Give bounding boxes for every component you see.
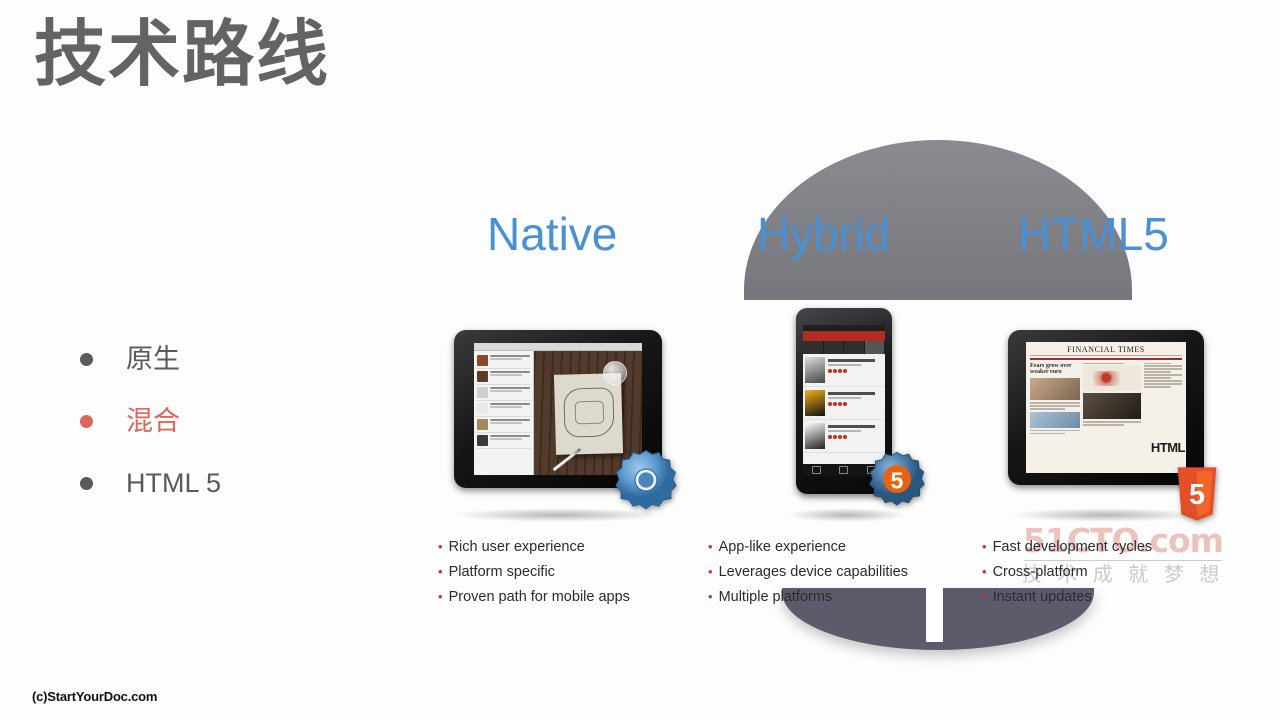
shield-number: 5 bbox=[1189, 479, 1205, 511]
feature-label: Cross-platform bbox=[993, 565, 1088, 580]
feature-item: • Cross-platform bbox=[982, 565, 1152, 580]
footer-credit: (c)StartYourDoc.com bbox=[32, 689, 157, 704]
feature-label: Fast development cycles bbox=[993, 540, 1153, 555]
feature-item: • Fast development cycles bbox=[982, 540, 1152, 555]
browser-screen-html5: FINANCIAL TIMES Fears grow over weaker e… bbox=[1026, 342, 1186, 473]
gear-badge-number: 5 bbox=[891, 467, 904, 493]
article-photo bbox=[1030, 412, 1080, 428]
feature-label: Rich user experience bbox=[449, 540, 585, 555]
article-column-2 bbox=[1083, 363, 1141, 462]
feature-bullet-icon: • bbox=[708, 565, 713, 578]
device-shadow bbox=[1008, 508, 1201, 522]
column-heading-html5: HTML5 bbox=[1018, 207, 1169, 261]
list-item-label: HTML 5 bbox=[126, 470, 221, 497]
feature-item: • Leverages device capabilities bbox=[708, 565, 908, 580]
list-item bbox=[803, 354, 885, 387]
tablet-device-html5: FINANCIAL TIMES Fears grow over weaker e… bbox=[1008, 330, 1204, 485]
feature-bullet-icon: • bbox=[438, 540, 443, 553]
app-toolbar bbox=[474, 343, 642, 351]
blue-gear-icon bbox=[614, 448, 678, 512]
app-title-bar bbox=[803, 331, 885, 341]
html-wordmark: HTML bbox=[1151, 440, 1185, 455]
mail-list-pane bbox=[474, 351, 534, 475]
feature-item: • Instant updates bbox=[982, 590, 1152, 605]
feature-item: • Multiple platforms bbox=[708, 590, 908, 605]
list-item bbox=[803, 420, 885, 453]
bullet-dot-icon bbox=[80, 353, 93, 366]
device-shadow bbox=[787, 508, 907, 522]
topic-bullet-list: 原生 混合 HTML 5 bbox=[80, 328, 380, 514]
feature-item: • Platform specific bbox=[438, 565, 630, 580]
feature-list-native: • Rich user experience • Platform specif… bbox=[438, 540, 630, 615]
list-item-hybrid[interactable]: 混合 bbox=[80, 390, 380, 452]
feature-bullet-icon: • bbox=[982, 540, 987, 553]
feature-bullet-icon: • bbox=[982, 590, 987, 603]
gear-with-html5-number-icon: 5 bbox=[868, 450, 926, 508]
list-item-label: 原生 bbox=[126, 346, 180, 373]
column-heading-hybrid: Hybrid bbox=[757, 207, 890, 261]
device-illustration-hybrid: 5 bbox=[782, 306, 912, 516]
page-title: 技术路线 bbox=[34, 16, 330, 95]
feature-bullet-icon: • bbox=[438, 590, 443, 603]
feature-list-hybrid: • App-like experience • Leverages device… bbox=[708, 540, 908, 615]
feature-bullet-icon: • bbox=[438, 565, 443, 578]
feature-label: Platform specific bbox=[449, 565, 555, 580]
column-heading-native: Native bbox=[487, 207, 617, 261]
data-map-graphic bbox=[1083, 365, 1141, 391]
glass-image bbox=[603, 361, 627, 385]
article-photo bbox=[1030, 378, 1080, 400]
app-tab-bar bbox=[803, 341, 885, 354]
feature-item: • Proven path for mobile apps bbox=[438, 590, 630, 605]
feature-label: App-like experience bbox=[719, 540, 846, 555]
feature-label: Proven path for mobile apps bbox=[449, 590, 630, 605]
feature-bullet-icon: • bbox=[982, 565, 987, 578]
feature-item: • Rich user experience bbox=[438, 540, 630, 555]
list-item-native[interactable]: 原生 bbox=[80, 328, 380, 390]
article-column-1: Fears grow over weaker euro bbox=[1030, 363, 1080, 462]
list-item bbox=[476, 353, 531, 369]
sketch-paper-image bbox=[554, 373, 623, 455]
feature-label: Leverages device capabilities bbox=[719, 565, 908, 580]
feature-label: Instant updates bbox=[993, 590, 1092, 605]
list-item bbox=[476, 417, 531, 433]
feature-item: • App-like experience bbox=[708, 540, 908, 555]
bullet-dot-icon bbox=[80, 415, 93, 428]
feature-bullet-icon: • bbox=[708, 540, 713, 553]
device-illustration-html5: FINANCIAL TIMES Fears grow over weaker e… bbox=[1000, 326, 1210, 516]
device-shadow bbox=[453, 508, 665, 522]
article-photo bbox=[1083, 393, 1141, 419]
site-masthead: FINANCIAL TIMES bbox=[1030, 345, 1182, 356]
list-item bbox=[803, 387, 885, 420]
feature-label: Multiple platforms bbox=[719, 590, 833, 605]
bullet-dot-icon bbox=[80, 477, 93, 490]
list-item-html5[interactable]: HTML 5 bbox=[80, 452, 380, 514]
feature-bullet-icon: • bbox=[708, 590, 713, 603]
list-item bbox=[476, 369, 531, 385]
feature-list-html5: • Fast development cycles • Cross-platfo… bbox=[982, 540, 1152, 615]
list-item bbox=[476, 433, 531, 449]
list-item bbox=[476, 401, 531, 417]
list-item bbox=[476, 385, 531, 401]
base-notch bbox=[926, 584, 943, 642]
device-illustration-native bbox=[444, 326, 674, 516]
list-item-label: 混合 bbox=[126, 408, 180, 435]
site-headline: Fears grow over weaker euro bbox=[1030, 363, 1080, 377]
masthead-rule bbox=[1030, 358, 1182, 360]
